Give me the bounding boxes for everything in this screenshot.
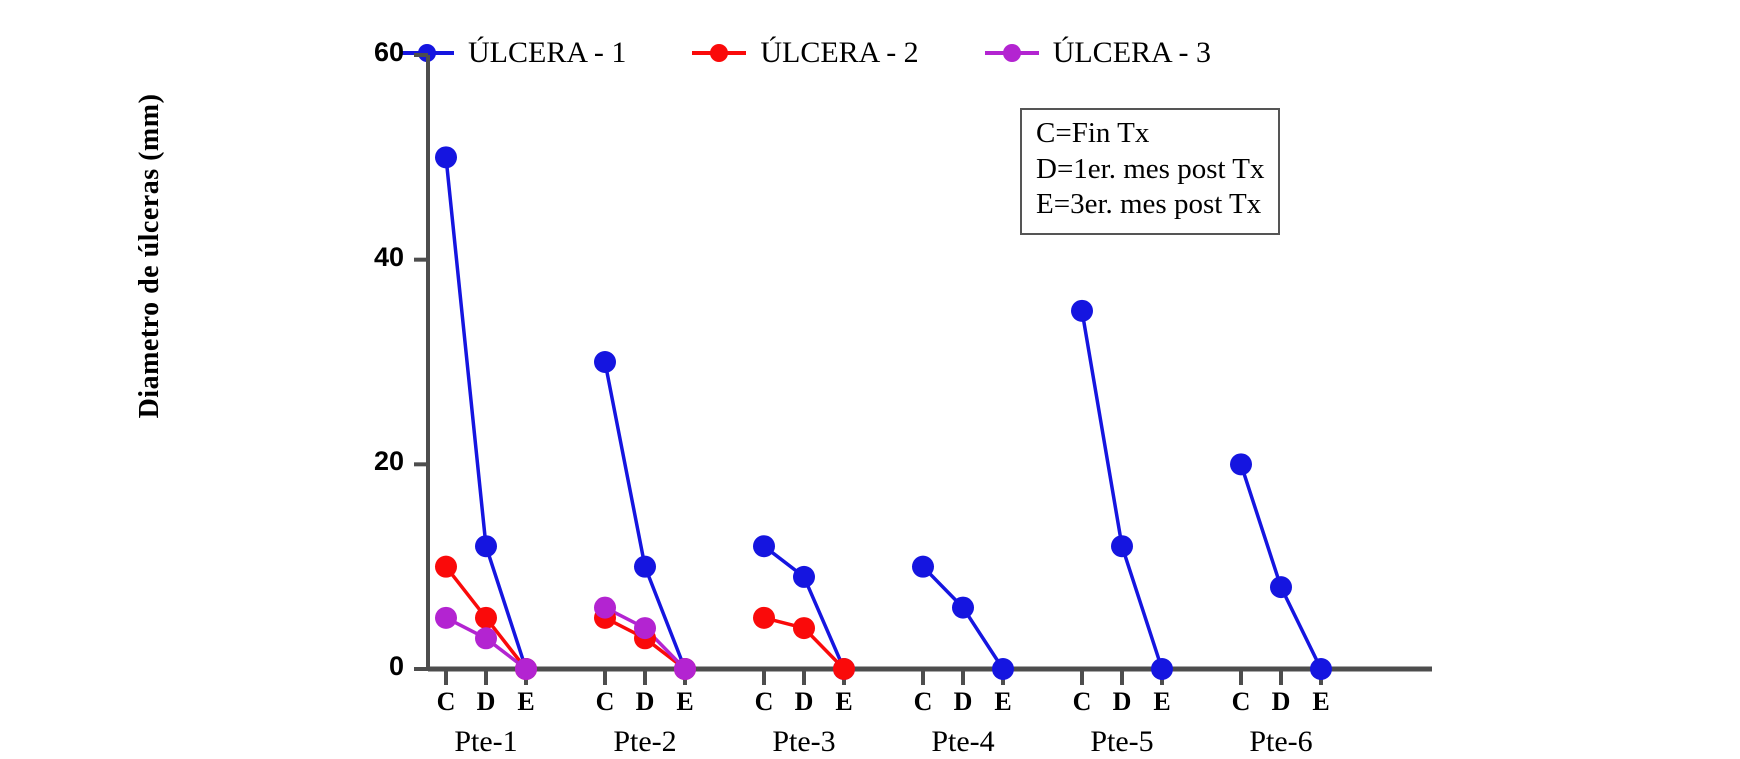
data-point bbox=[435, 607, 457, 629]
x-tick-label: C bbox=[1221, 687, 1261, 717]
data-point bbox=[992, 658, 1014, 680]
x-tick-label: D bbox=[1261, 687, 1301, 717]
x-group-label: Pte-4 bbox=[883, 725, 1043, 759]
series-line bbox=[1082, 311, 1162, 669]
data-point bbox=[753, 535, 775, 557]
data-point bbox=[1230, 453, 1252, 475]
x-tick-label: D bbox=[784, 687, 824, 717]
data-point bbox=[475, 535, 497, 557]
data-point bbox=[594, 597, 616, 619]
x-tick-label: C bbox=[585, 687, 625, 717]
x-group-label: Pte-1 bbox=[406, 725, 566, 759]
y-tick-label: 0 bbox=[344, 651, 404, 682]
x-tick-label: E bbox=[1142, 687, 1182, 717]
data-point bbox=[475, 627, 497, 649]
y-tick-label: 20 bbox=[344, 446, 404, 477]
data-point bbox=[515, 658, 537, 680]
data-point bbox=[753, 607, 775, 629]
data-point bbox=[833, 658, 855, 680]
x-tick-label: C bbox=[903, 687, 943, 717]
data-point bbox=[1071, 300, 1093, 322]
series-line bbox=[446, 157, 526, 669]
data-point bbox=[793, 617, 815, 639]
x-tick-label: E bbox=[983, 687, 1023, 717]
data-point bbox=[1310, 658, 1332, 680]
data-point bbox=[435, 556, 457, 578]
x-group-label: Pte-5 bbox=[1042, 725, 1202, 759]
x-tick-label: E bbox=[824, 687, 864, 717]
data-point bbox=[594, 351, 616, 373]
y-tick-label: 40 bbox=[344, 242, 404, 273]
data-point bbox=[674, 658, 696, 680]
plot-area bbox=[0, 0, 1740, 756]
data-point bbox=[1111, 535, 1133, 557]
x-tick-label: D bbox=[943, 687, 983, 717]
data-point bbox=[1151, 658, 1173, 680]
x-group-label: Pte-6 bbox=[1201, 725, 1361, 759]
x-tick-label: D bbox=[1102, 687, 1142, 717]
x-tick-label: C bbox=[1062, 687, 1102, 717]
x-tick-label: C bbox=[426, 687, 466, 717]
x-tick-label: E bbox=[506, 687, 546, 717]
data-point bbox=[634, 556, 656, 578]
y-tick-label: 60 bbox=[344, 37, 404, 68]
data-point bbox=[475, 607, 497, 629]
data-point bbox=[912, 556, 934, 578]
series-line bbox=[764, 546, 844, 669]
series-line bbox=[1241, 464, 1321, 669]
data-point bbox=[1270, 576, 1292, 598]
x-group-label: Pte-3 bbox=[724, 725, 884, 759]
data-point bbox=[952, 597, 974, 619]
x-tick-label: C bbox=[744, 687, 784, 717]
x-group-label: Pte-2 bbox=[565, 725, 725, 759]
chart-figure: Diametro de úlceras (mm) ÚLCERA - 1 ÚLCE… bbox=[0, 0, 1740, 756]
data-point bbox=[435, 146, 457, 168]
x-tick-label: D bbox=[466, 687, 506, 717]
x-tick-label: E bbox=[1301, 687, 1341, 717]
x-tick-label: D bbox=[625, 687, 665, 717]
data-point bbox=[634, 617, 656, 639]
data-point bbox=[793, 566, 815, 588]
x-tick-label: E bbox=[665, 687, 705, 717]
